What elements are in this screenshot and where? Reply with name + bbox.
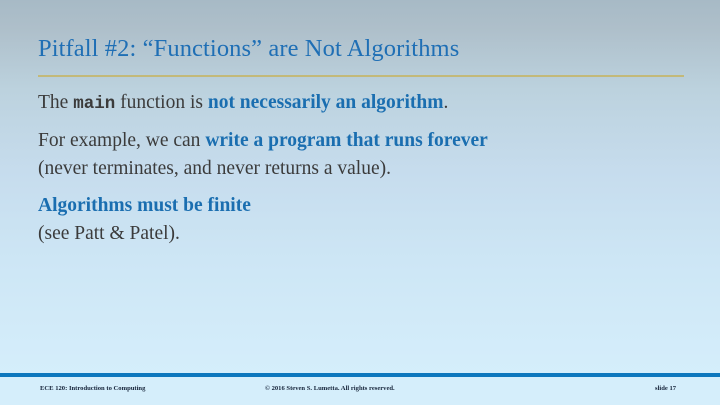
footer-copyright-label: © 2016 Steven S. Lumetta. All rights res… (265, 383, 395, 395)
footer-course-label: ECE 120: Introduction to Computing (40, 383, 145, 395)
slide-canvas: Pitfall #2: “Functions” are Not Algorith… (0, 0, 720, 405)
page-title: Pitfall #2: “Functions” are Not Algorith… (38, 34, 686, 64)
paragraph-2-text-part-1: For example, we can (38, 130, 205, 151)
body-paragraph-3: Algorithms must be finite(see Patt & Pat… (38, 192, 508, 248)
body-paragraph-1: The main function is not necessarily an … (38, 89, 508, 118)
slide-footer: ECE 120: Introduction to Computing © 201… (0, 383, 720, 399)
paragraph-3-emphasis: Algorithms must be finite (38, 192, 508, 220)
footer-separator-bar (0, 373, 720, 377)
body-paragraph-2: For example, we can write a program that… (38, 127, 508, 183)
slide-body: The main function is not necessarily an … (38, 89, 508, 248)
paragraph-1-emphasis: not necessarily an algorithm (208, 92, 444, 113)
paragraph-1-code-main: main (73, 94, 115, 114)
paragraph-1-text-part-2: function is (115, 92, 208, 113)
paragraph-1-text-part-1: The (38, 92, 73, 113)
title-underline-rule (38, 75, 684, 77)
title-block: Pitfall #2: “Functions” are Not Algorith… (38, 34, 686, 64)
paragraph-2-emphasis: write a program that runs forever (205, 130, 488, 151)
footer-slide-number: slide 17 (655, 383, 676, 395)
paragraph-1-text-part-3: . (443, 92, 448, 113)
paragraph-3-text-part-1: (see Patt & Patel). (38, 223, 180, 244)
paragraph-2-text-part-2: (never terminates, and never returns a v… (38, 158, 391, 179)
